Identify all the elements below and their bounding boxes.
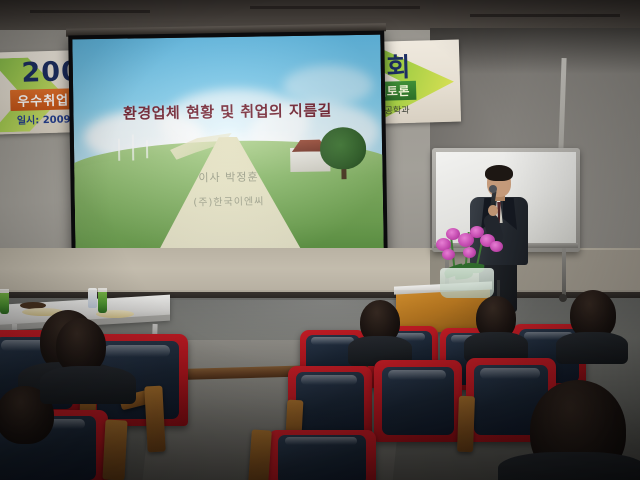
seat-highlight [285, 437, 356, 445]
wall-shadow [430, 28, 640, 74]
microphone-head-icon [489, 185, 497, 193]
whiteboard-caster [559, 294, 567, 302]
seat [268, 430, 376, 480]
seat-armrest [102, 419, 127, 480]
lecture-hall-photo: 200 우수취업 일시: 2009. 수회 강전택토론 학교 환경공학과 환경업… [0, 0, 640, 480]
seat-highlight [480, 368, 539, 379]
seat-highlight [104, 345, 170, 357]
orchid-bloom [490, 241, 503, 252]
banner-highlight-badge: 우수취업 [10, 88, 76, 111]
speaker-hand [488, 205, 498, 216]
speaker-hair [485, 165, 513, 181]
whiteboard-leg [562, 248, 566, 296]
beverage-can [88, 288, 97, 308]
banner-date-text: 일시: 2009. [17, 110, 75, 127]
fence-post-icon [146, 140, 148, 158]
slide-tree [320, 127, 367, 170]
audience-shoulders [556, 332, 628, 364]
fence-post-icon [118, 139, 120, 161]
projected-slide: 환경업체 현황 및 취업의 지름길 이사 박정훈 (주)한국이엔씨 [72, 35, 383, 256]
bottle-cap [98, 288, 107, 292]
orchid-pot [440, 268, 494, 298]
bottle-cap [0, 289, 9, 293]
green-bottle [98, 291, 107, 313]
seat-highlight [388, 370, 446, 381]
seat-armrest [144, 386, 165, 453]
seat-highlight [311, 337, 355, 345]
seat-armrest [457, 396, 475, 453]
green-bottle [0, 292, 9, 314]
audience-shoulders-foreground [498, 452, 640, 480]
orchid-bloom [442, 249, 455, 260]
audience-shoulders [40, 366, 136, 404]
seat-armrest [248, 429, 272, 480]
seat [374, 360, 462, 442]
seat-highlight [301, 375, 356, 385]
orchid-bloom [463, 247, 476, 258]
fence-post-icon [132, 134, 134, 160]
